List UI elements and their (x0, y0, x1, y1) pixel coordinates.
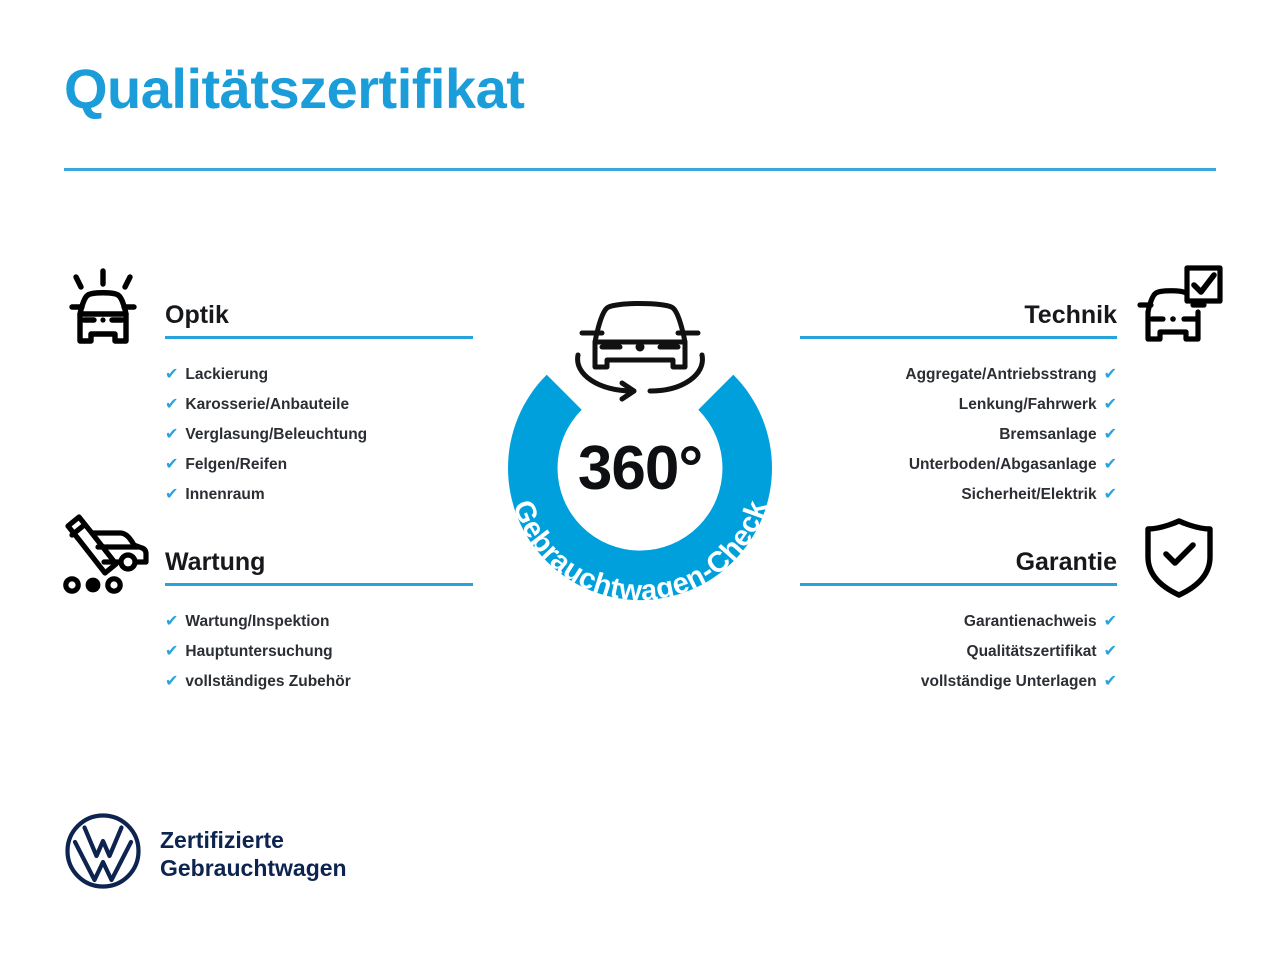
list-item: ✔ Lackierung (165, 360, 473, 390)
list-item-label: vollständiges Zubehör (185, 667, 350, 697)
section-divider (165, 583, 473, 586)
gebrauchtwagen-check-badge: Gebrauchtwagen-Check 360° (462, 255, 818, 633)
section-header: Technik (800, 298, 1117, 342)
list-item-label: Lackierung (185, 360, 268, 390)
list-item: Unterboden/Abgasanlage ✔ (800, 450, 1117, 480)
vw-footer-line1: Zertifizierte (160, 827, 284, 853)
checklist-wartung: ✔ Wartung/Inspektion ✔ Hauptuntersuchung… (165, 607, 473, 697)
vw-footer-text: Zertifizierte Gebrauchtwagen (160, 826, 347, 882)
list-item: vollständige Unterlagen ✔ (800, 667, 1117, 697)
check-icon: ✔ (165, 614, 178, 630)
section-wartung: Wartung ✔ Wartung/Inspektion ✔ Hauptunte… (165, 545, 473, 697)
section-technik: Technik Aggregate/Antriebsstrang ✔ Lenku… (800, 298, 1117, 510)
vw-footer-line2: Gebrauchtwagen (160, 855, 347, 881)
list-item-label: Garantienachweis (964, 607, 1097, 637)
check-icon: ✔ (1104, 674, 1117, 690)
car-service-tool-icon (58, 512, 150, 603)
list-item: Aggregate/Antriebsstrang ✔ (800, 360, 1117, 390)
check-icon: ✔ (165, 397, 178, 413)
section-divider (800, 336, 1117, 339)
page-title: Qualitätszertifikat (64, 60, 524, 119)
checklist-technik: Aggregate/Antriebsstrang ✔ Lenkung/Fahrw… (800, 360, 1117, 510)
section-garantie: Garantie Garantienachweis ✔ Qualitätszer… (800, 545, 1117, 697)
checklist-optik: ✔ Lackierung ✔ Karosserie/Anbauteile ✔ V… (165, 360, 473, 510)
list-item-label: Unterboden/Abgasanlage (909, 450, 1097, 480)
check-icon: ✔ (1104, 644, 1117, 660)
list-item: Bremsanlage ✔ (800, 420, 1117, 450)
section-divider (800, 583, 1117, 586)
check-icon: ✔ (165, 487, 178, 503)
check-icon: ✔ (165, 457, 178, 473)
check-icon: ✔ (165, 427, 178, 443)
list-item: Qualitätszertifikat ✔ (800, 637, 1117, 667)
list-item-label: Aggregate/Antriebsstrang (905, 360, 1096, 390)
check-icon: ✔ (1104, 614, 1117, 630)
list-item: ✔ Hauptuntersuchung (165, 637, 473, 667)
list-item-label: Wartung/Inspektion (185, 607, 329, 637)
volkswagen-logo (64, 812, 142, 895)
list-item: ✔ Innenraum (165, 480, 473, 510)
header-divider (64, 168, 1216, 171)
section-title-technik: Technik (800, 298, 1117, 332)
certificate-page: Qualitätszertifikat (0, 0, 1280, 960)
section-divider (165, 336, 473, 339)
section-optik: Optik ✔ Lackierung ✔ Karosserie/Anbautei… (165, 298, 473, 510)
list-item-label: Innenraum (185, 480, 264, 510)
section-title-wartung: Wartung (165, 545, 473, 579)
list-item-label: Verglasung/Beleuchtung (185, 420, 367, 450)
check-icon: ✔ (1104, 397, 1117, 413)
badge-number: 360° (462, 433, 818, 504)
list-item: ✔ vollständiges Zubehör (165, 667, 473, 697)
list-item-label: Hauptuntersuchung (185, 637, 332, 667)
list-item: Lenkung/Fahrwerk ✔ (800, 390, 1117, 420)
list-item-label: Qualitätszertifikat (967, 637, 1097, 667)
check-icon: ✔ (165, 644, 178, 660)
check-icon: ✔ (1104, 487, 1117, 503)
list-item-label: vollständige Unterlagen (921, 667, 1097, 697)
section-title-garantie: Garantie (800, 545, 1117, 579)
list-item-label: Sicherheit/Elektrik (961, 480, 1096, 510)
list-item-label: Bremsanlage (999, 420, 1096, 450)
list-item: Sicherheit/Elektrik ✔ (800, 480, 1117, 510)
check-icon: ✔ (1104, 427, 1117, 443)
section-header: Garantie (800, 545, 1117, 589)
section-header: Wartung (165, 545, 473, 589)
list-item: Garantienachweis ✔ (800, 607, 1117, 637)
checklist-garantie: Garantienachweis ✔ Qualitätszertifikat ✔… (800, 607, 1117, 697)
list-item-label: Karosserie/Anbauteile (185, 390, 349, 420)
shield-check-icon (1142, 516, 1216, 605)
check-icon: ✔ (1104, 367, 1117, 383)
vw-footer-lockup: Zertifizierte Gebrauchtwagen (64, 812, 347, 895)
list-item: ✔ Felgen/Reifen (165, 450, 473, 480)
list-item-label: Felgen/Reifen (185, 450, 287, 480)
car-shine-icon (60, 262, 146, 355)
list-item: ✔ Wartung/Inspektion (165, 607, 473, 637)
check-icon: ✔ (1104, 457, 1117, 473)
list-item: ✔ Karosserie/Anbauteile (165, 390, 473, 420)
car-rotation-icon (578, 304, 703, 400)
section-header: Optik (165, 298, 473, 342)
check-icon: ✔ (165, 367, 178, 383)
list-item: ✔ Verglasung/Beleuchtung (165, 420, 473, 450)
section-title-optik: Optik (165, 298, 473, 332)
car-checkbox-icon (1132, 262, 1224, 353)
list-item-label: Lenkung/Fahrwerk (959, 390, 1097, 420)
check-icon: ✔ (165, 674, 178, 690)
